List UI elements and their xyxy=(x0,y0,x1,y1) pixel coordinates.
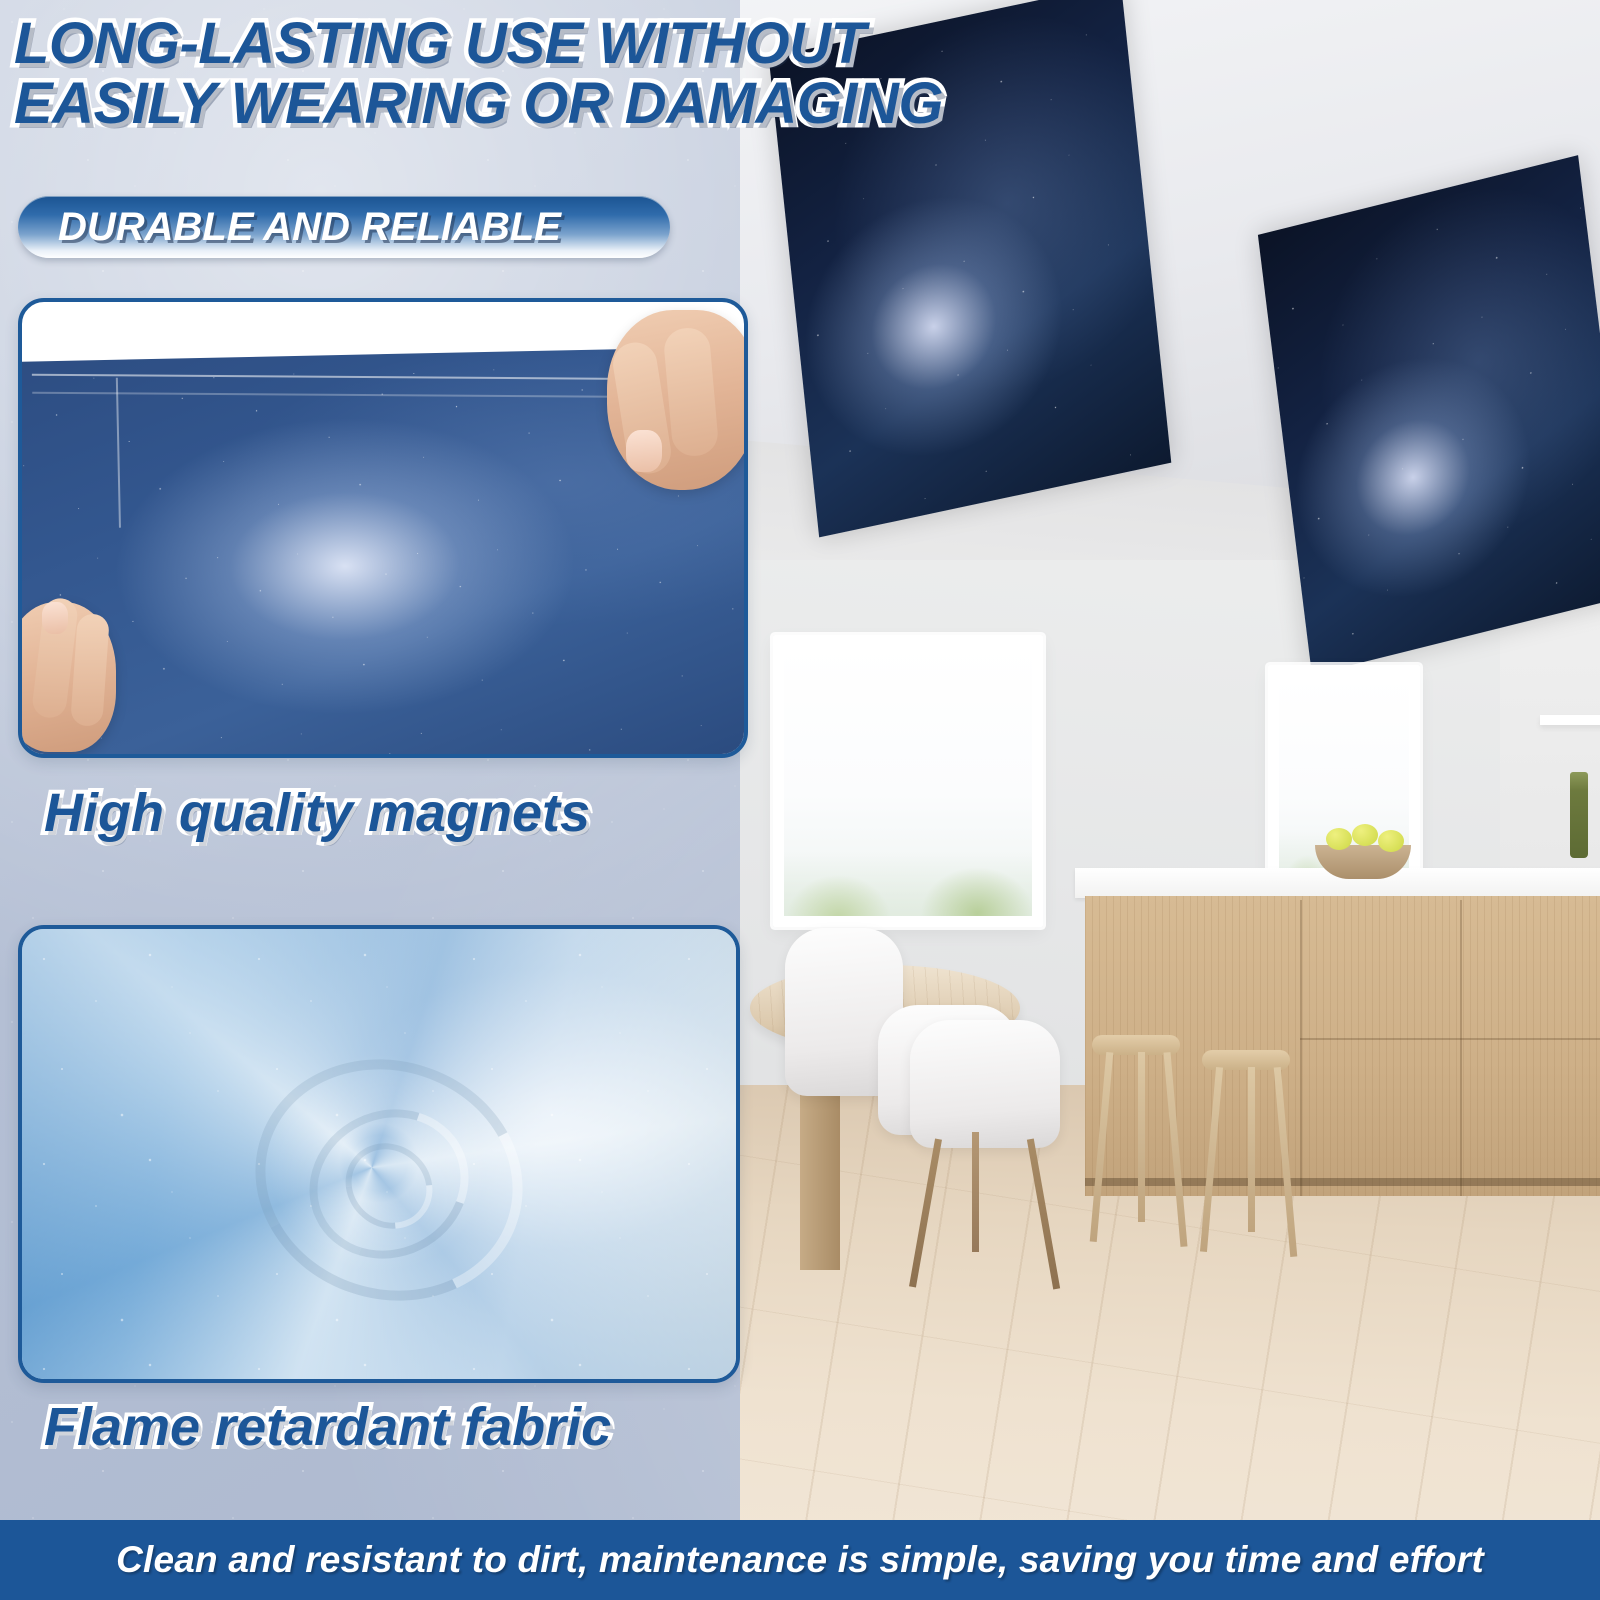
magnets-photo-card xyxy=(18,298,748,758)
flame-retardant-photo-card xyxy=(18,925,740,1383)
star-ceiling-panel-right xyxy=(1258,155,1600,675)
durable-reliable-badge: DURABLE AND RELIABLE xyxy=(18,196,670,258)
bottom-banner: Clean and resistant to dirt, maintenance… xyxy=(0,1520,1600,1600)
kitchen-room-photo xyxy=(740,0,1600,1540)
wall-shelf xyxy=(1540,715,1600,725)
headline: LONG-LASTING USE WITHOUT EASILY WEARING … xyxy=(14,14,974,134)
cabinet-toekick xyxy=(1085,1178,1600,1186)
badge-label: DURABLE AND RELIABLE xyxy=(58,205,561,250)
cabinet-seam xyxy=(1300,900,1302,1196)
fabric-seam-vertical xyxy=(116,378,121,528)
stool-leg xyxy=(1248,1067,1255,1232)
caption-high-quality-magnets: High quality magnets xyxy=(44,782,590,844)
oil-bottle xyxy=(1570,772,1588,858)
stool-leg xyxy=(1138,1052,1145,1222)
chair-leg xyxy=(972,1132,979,1252)
headline-line-2: EASILY WEARING OR DAMAGING xyxy=(14,74,974,134)
lemon xyxy=(1378,830,1404,852)
lemon xyxy=(1352,824,1378,846)
headline-line-1: LONG-LASTING USE WITHOUT xyxy=(14,14,974,74)
window-left xyxy=(773,635,1043,927)
banner-text: Clean and resistant to dirt, maintenance… xyxy=(116,1539,1484,1581)
cabinet-seam xyxy=(1300,1038,1600,1040)
caption-flame-retardant-fabric: Flame retardant fabric xyxy=(44,1396,611,1458)
fingernail xyxy=(42,602,68,634)
palm-tree-view xyxy=(784,852,1032,916)
cabinet-seam xyxy=(1460,900,1462,1196)
lemon xyxy=(1326,828,1352,850)
poster-canvas: LONG-LASTING USE WITHOUT EASILY WEARING … xyxy=(0,0,1600,1600)
fingernail xyxy=(626,430,662,472)
dining-chair-front xyxy=(910,1020,1060,1148)
